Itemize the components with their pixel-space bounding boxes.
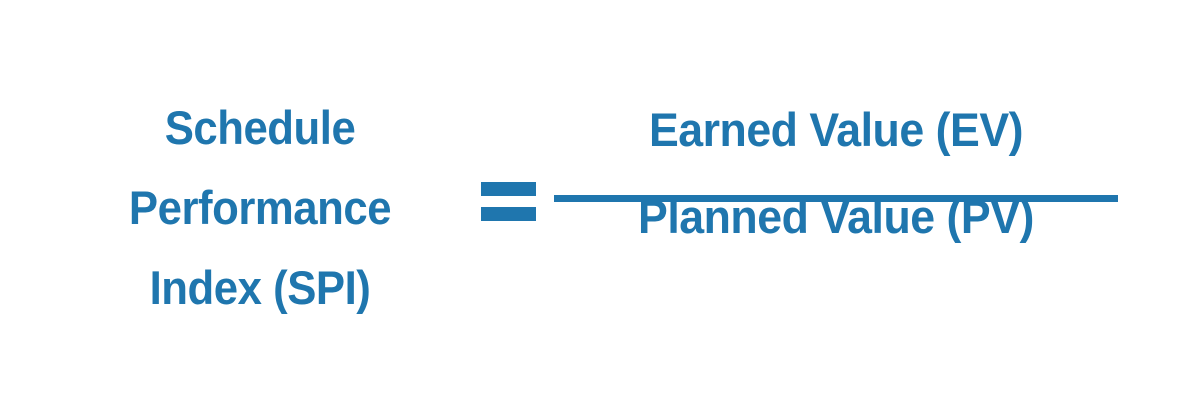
spi-label-line-3: Index (SPI) (74, 248, 446, 328)
equals-bar-top (481, 182, 536, 196)
fraction-bar (554, 195, 1118, 202)
equals-bar-bottom (481, 207, 536, 221)
spi-label-line-1: Schedule (74, 88, 446, 168)
spi-label-line-2: Performance (74, 168, 446, 248)
fraction: Earned Value (EV) Planned Value (PV) (554, 88, 1118, 240)
spi-label: Schedule Performance Index (SPI) (74, 88, 446, 328)
fraction-numerator: Earned Value (EV) (568, 88, 1104, 153)
formula-canvas: Schedule Performance Index (SPI) Earned … (0, 0, 1200, 400)
equals-sign-icon (481, 182, 536, 221)
